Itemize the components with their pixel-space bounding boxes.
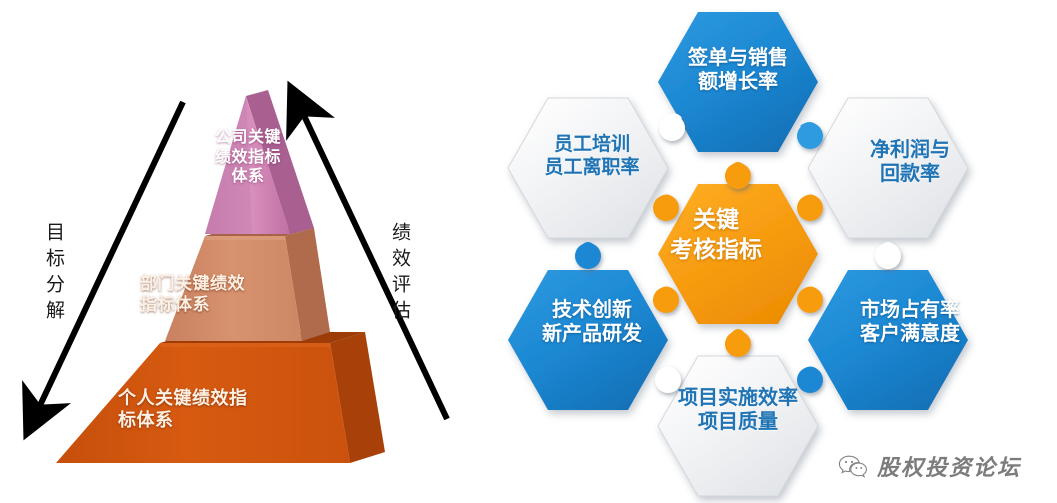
connector-righttop-center xyxy=(797,194,823,221)
pyramid-tier-individual xyxy=(56,332,385,463)
hexagon-core-kpi[interactable] xyxy=(658,184,818,324)
connector-top-righttop xyxy=(797,122,823,149)
wechat-icon xyxy=(838,454,868,478)
hexagon-market-share[interactable] xyxy=(808,270,968,410)
hexagon-net-profit[interactable] xyxy=(808,98,968,238)
pyramid-tier-company xyxy=(205,90,314,234)
connector-rightbottom-bottom xyxy=(797,366,823,393)
connector-top-center xyxy=(725,162,751,189)
connector-top-left xyxy=(659,113,685,141)
connector-left-leftbottom xyxy=(575,242,601,269)
pyramid-tier-department xyxy=(165,228,330,341)
hexagon-diagram: 关键 考核指标 签单与销售 额增长率 员工培训 员工离职率 净利润与 回款率 技… xyxy=(480,0,1057,503)
connector-righttop-rightbottom xyxy=(875,242,901,269)
watermark: 股权投资论坛 xyxy=(838,450,1021,482)
hexagon-employee-training[interactable] xyxy=(508,98,668,238)
connector-rightbottom-center xyxy=(797,286,823,313)
hexagon-technology-innovation[interactable] xyxy=(508,270,668,410)
performance-evaluation-label: 绩效评估 xyxy=(390,222,409,326)
connector-leftbottom-center xyxy=(653,286,679,313)
connector-center-bottom xyxy=(725,329,751,357)
connector-left-center xyxy=(653,194,679,221)
pyramid-diagram: 公司关键 绩效指标 体系 部门关键绩效 指标体系 个人关键绩效指 标体系 目标分… xyxy=(0,0,480,503)
hexagon-svg xyxy=(480,0,1057,503)
diagram-canvas: 公司关键 绩效指标 体系 部门关键绩效 指标体系 个人关键绩效指 标体系 目标分… xyxy=(0,0,1057,503)
connector-leftbottom-bottom xyxy=(655,366,681,393)
goal-decomposition-label: 目标分解 xyxy=(44,222,63,326)
watermark-text: 股权投资论坛 xyxy=(877,450,1021,482)
hexagon-project-efficiency[interactable] xyxy=(658,356,818,496)
